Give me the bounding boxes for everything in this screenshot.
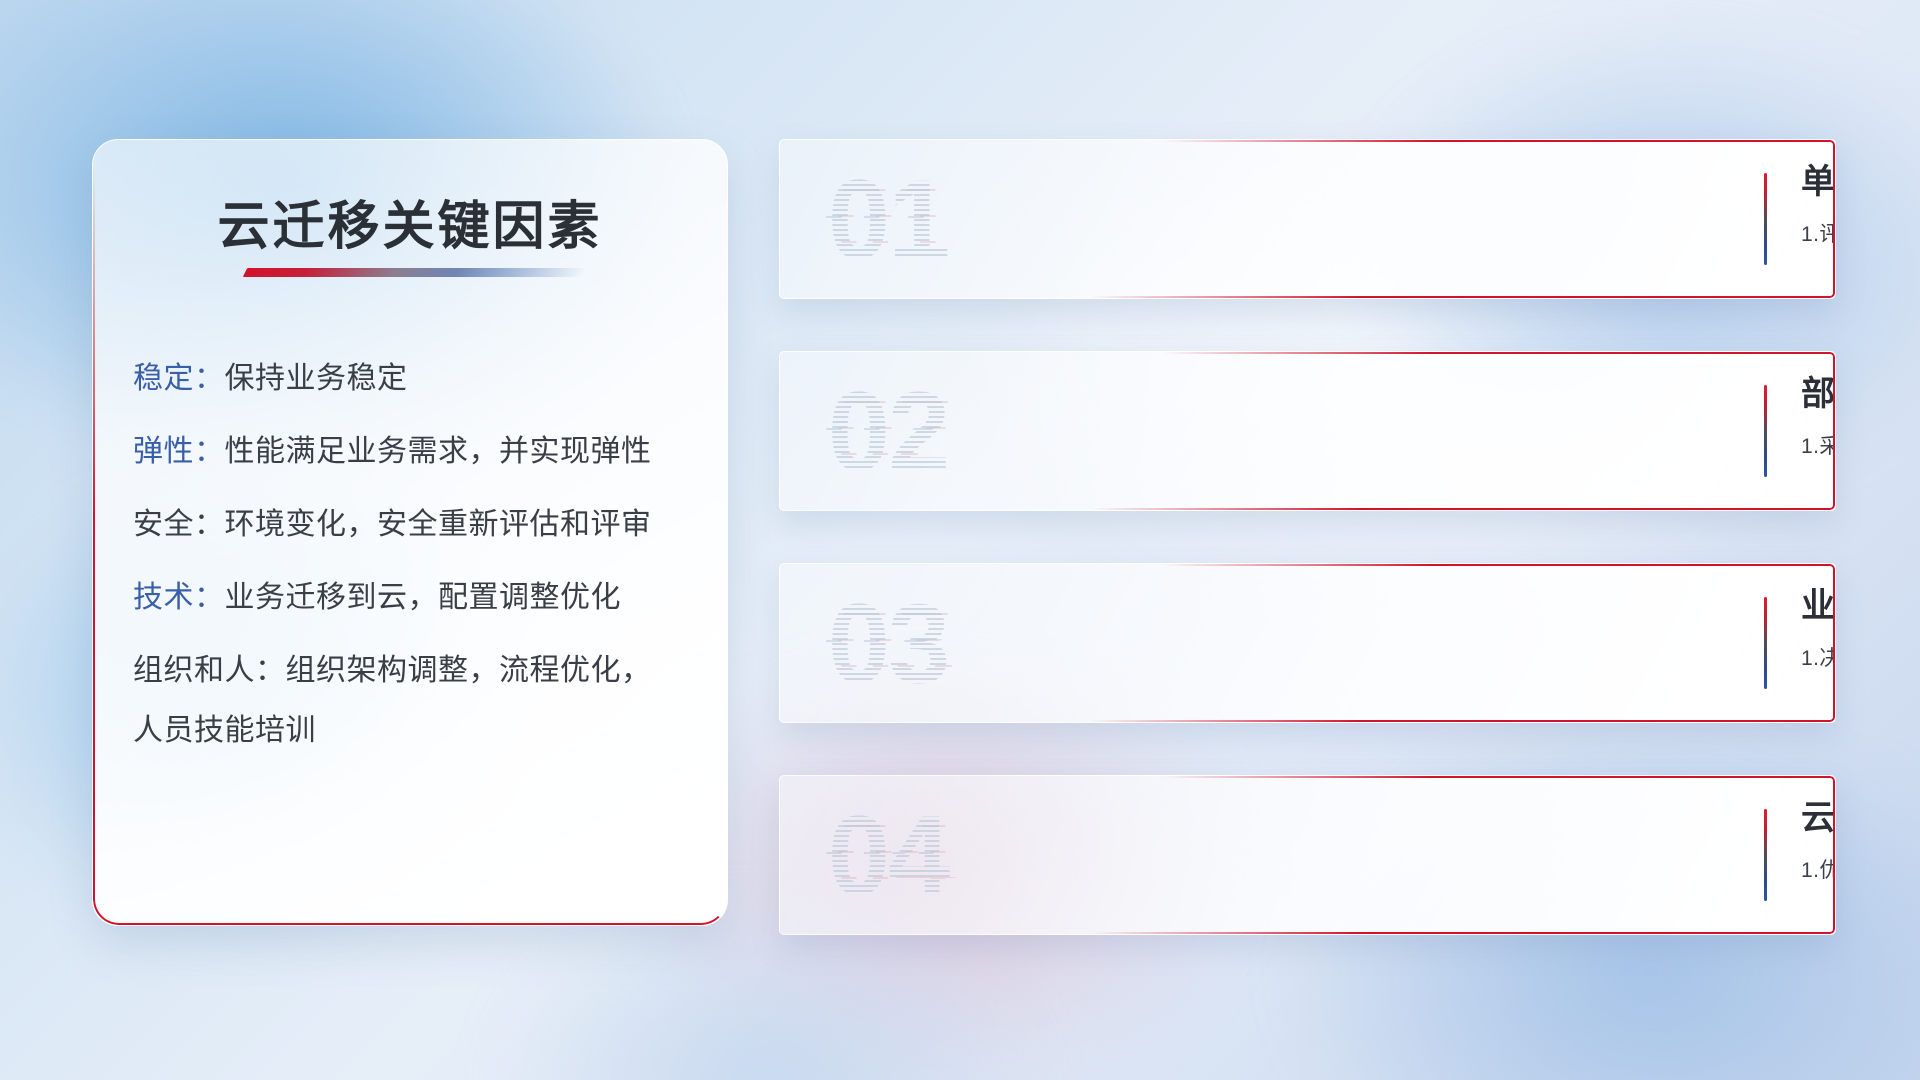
page-title: 云迁移关键因素 [93,184,727,259]
stage-title: 单个项目尝试上云 [1801,162,1805,202]
stage-points: 1.评估上云的价值2.通常以某个项目作为尝试 [1801,218,1805,248]
stage-content: 部分业务系统上云 1.采用公有云作为数据中心的延伸2.建立运营和安全规范 [1801,374,1805,460]
list-item-continuation: 人员技能培训 [133,716,699,746]
list-item: 稳定：保持业务稳定 [133,364,699,394]
stage-number-watermark: 03 [808,578,968,710]
stage-title: 业务系统全面上云 [1801,586,1805,626]
stage-content: 单个项目尝试上云 1.评估上云的价值2.通常以某个项目作为尝试 [1801,162,1805,248]
list-item: 安全：环境变化，安全重新评估和评审 [133,510,699,540]
stage-divider-bar [1764,173,1767,265]
list-item-text: 性能满足业务需求，并实现弹性 [225,435,652,468]
title-underline-gradient [243,268,587,277]
stage-number-watermark: 02 [808,366,968,498]
list-item: 组织和人：组织架构调整，流程优化， [133,656,699,686]
stage-number-watermark: 04 [808,790,968,922]
stage-points: 1.优化运营模式和技术模式2.云计算变成默认选项 [1801,854,1805,884]
slide-canvas: 云迁移关键因素 稳定：保持业务稳定 弹性：性能满足业务需求，并实现弹性 安全：环… [0,0,1920,1080]
stage-card-04[interactable]: 04 04 04 云上系统运营优化 1.优化运营模式和技术模式2.云计算变成默认… [779,775,1836,935]
list-item-text: 人员技能培训 [133,714,316,747]
stage-card-03[interactable]: 03 03 03 业务系统全面上云 1.决定长期使用云计算2.迁移应用上云，甚至… [779,563,1836,723]
list-item-text: 组织架构调整，流程优化， [286,654,652,687]
list-item-text: 保持业务稳定 [225,362,408,395]
stage-content: 云上系统运营优化 1.优化运营模式和技术模式2.云计算变成默认选项 [1801,798,1805,884]
list-item-text: 业务迁移到云，配置调整优化 [225,581,622,614]
stage-point-1: 1.优化运营模式和技术模式 [1801,859,1836,882]
key-factors-panel: 云迁移关键因素 稳定：保持业务稳定 弹性：性能满足业务需求，并实现弹性 安全：环… [92,139,728,926]
stage-content: 业务系统全面上云 1.决定长期使用云计算2.迁移应用上云，甚至包括核心应用 [1801,586,1805,672]
stage-divider-bar [1764,809,1767,901]
stage-title: 部分业务系统上云 [1801,374,1805,414]
list-item: 技术：业务迁移到云，配置调整优化 [133,583,699,613]
stage-point-1: 1.采用公有云作为数据中心的延伸 [1801,435,1836,458]
list-item-key: 稳定： [133,362,225,395]
stage-card-02[interactable]: 02 02 02 部分业务系统上云 1.采用公有云作为数据中心的延伸2.建立运营… [779,351,1836,511]
stage-points: 1.采用公有云作为数据中心的延伸2.建立运营和安全规范 [1801,430,1805,460]
stage-point-1: 1.评估上云的价值 [1801,223,1836,246]
list-item-key: 技术： [133,581,225,614]
list-item: 弹性：性能满足业务需求，并实现弹性 [133,437,699,467]
stage-title: 云上系统运营优化 [1801,798,1805,838]
stage-points: 1.决定长期使用云计算2.迁移应用上云，甚至包括核心应用 [1801,642,1805,672]
stage-number-watermark: 01 [808,154,968,286]
list-item-key: 组织和人： [133,654,286,687]
stage-card-01[interactable]: 01 01 01 单个项目尝试上云 1.评估上云的价值2.通常以某个项目作为尝试 [779,139,1836,299]
stage-divider-bar [1764,597,1767,689]
list-item-key: 安全： [133,508,225,541]
stage-point-1: 1.决定长期使用云计算 [1801,647,1836,670]
list-item-key: 弹性： [133,435,225,468]
stage-divider-bar [1764,385,1767,477]
list-item-text: 环境变化，安全重新评估和评审 [225,508,652,541]
key-factors-list: 稳定：保持业务稳定 弹性：性能满足业务需求，并实现弹性 安全：环境变化，安全重新… [133,364,699,789]
